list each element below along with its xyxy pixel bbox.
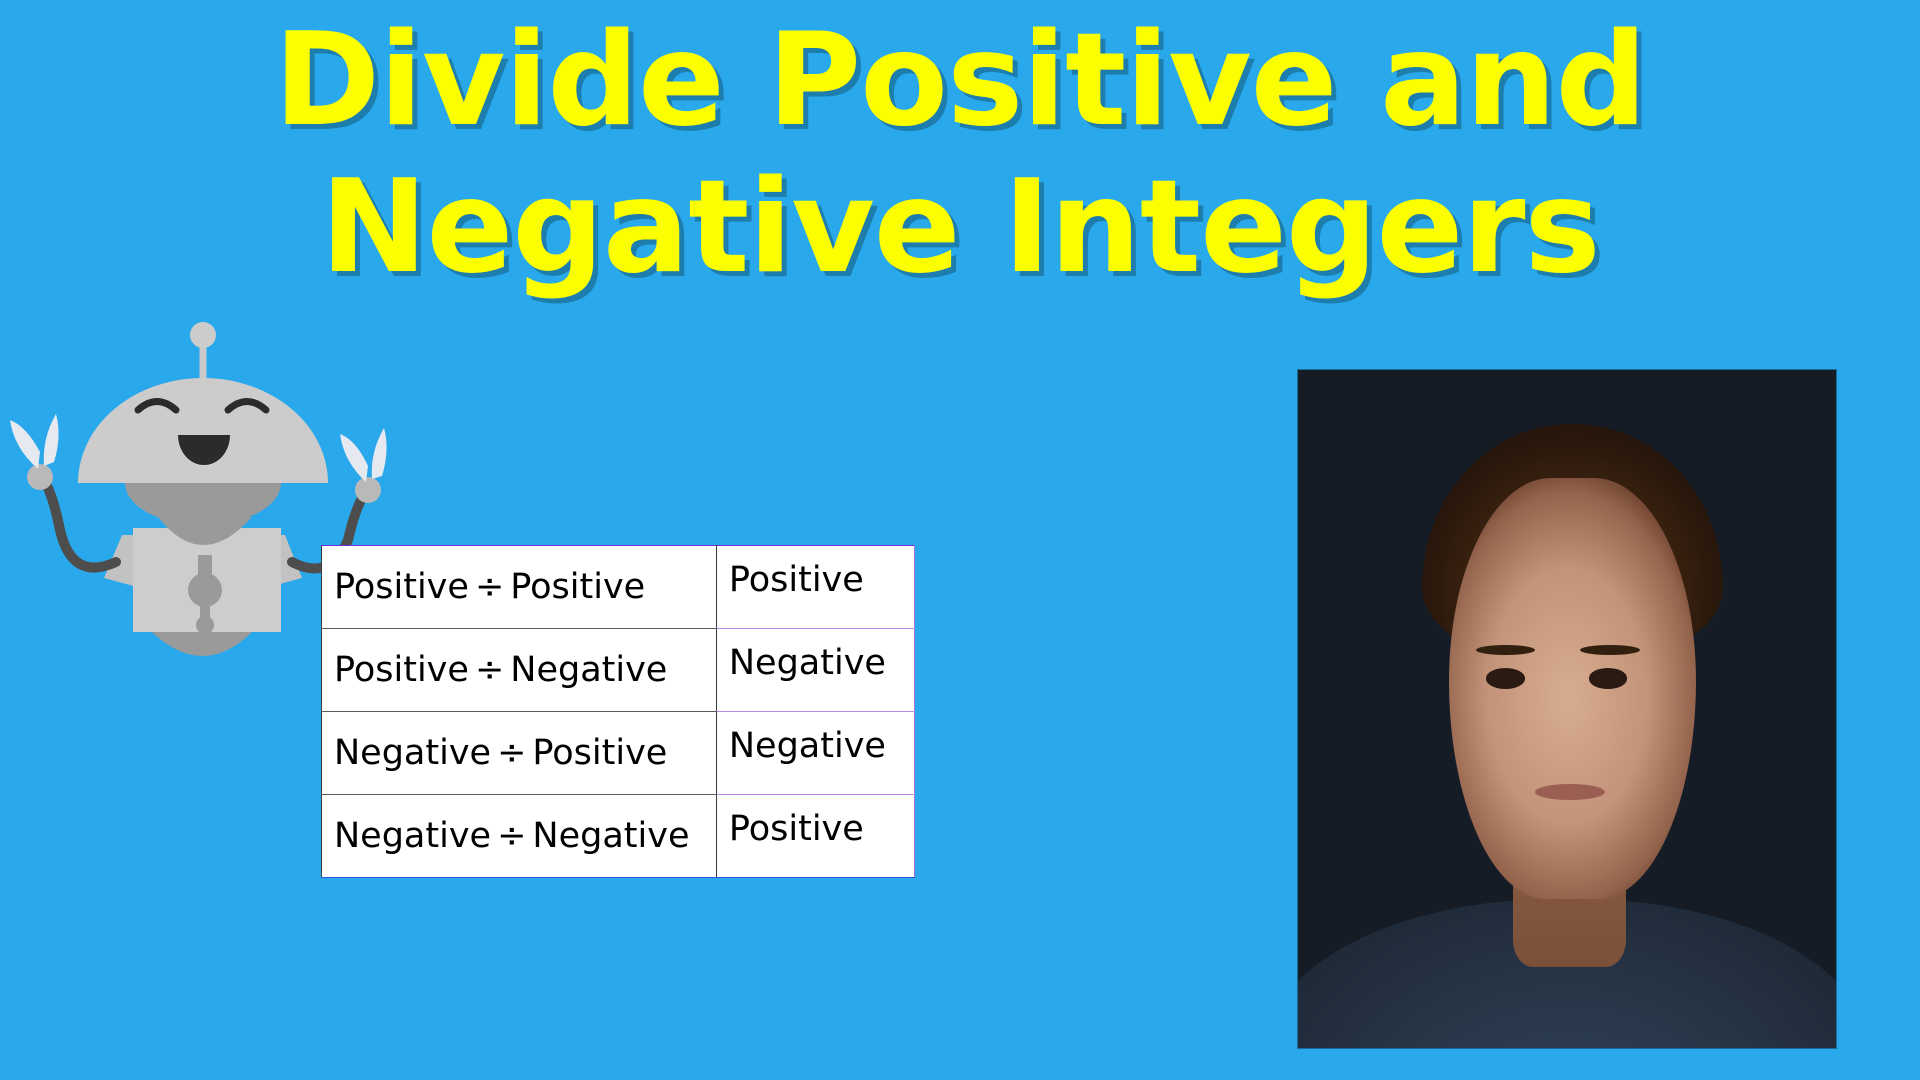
operand-2: Negative [510,650,667,690]
robot-antenna-ball [190,322,216,348]
table-body: Positive÷Positive Positive Positive÷Nega… [322,546,915,878]
operand-2: Positive [510,567,645,607]
presenter-face [1449,478,1696,898]
table-cell-result: Negative [716,629,914,712]
table-row: Positive÷Negative Negative [322,629,915,712]
operand-2: Positive [532,733,667,773]
table-cell-expression: Negative÷Positive [322,712,717,795]
robot-stand-ball [188,573,222,607]
title-line-1: Divide Positive and [0,18,1920,143]
robot-arm-left [42,478,116,568]
slide-canvas: Divide Positive and Negative Integers [0,0,1920,1080]
divide-icon: ÷ [469,567,510,607]
table-row: Negative÷Negative Positive [322,795,915,878]
robot-stand [140,515,280,645]
operand-1: Negative [334,733,491,773]
divide-icon: ÷ [491,816,532,856]
table-cell-result: Positive [716,795,914,878]
presenter-eye-right [1589,668,1628,688]
robot-stand-foot [196,616,214,634]
presenter-eye-left [1486,668,1525,688]
robot-claw-left-icon [10,414,59,490]
presenter-video-thumbnail [1298,370,1836,1048]
table-cell-result: Positive [716,546,914,629]
table-cell-expression: Negative÷Negative [322,795,717,878]
table-row: Positive÷Positive Positive [322,546,915,629]
robot-head-dome [78,378,328,483]
operand-1: Negative [334,816,491,856]
divide-icon: ÷ [491,733,532,773]
table-cell-expression: Positive÷Negative [322,629,717,712]
robot-hip-taper [158,517,252,545]
table-cell-expression: Positive÷Positive [322,546,717,629]
robot-claw-right-icon [340,428,387,503]
operand-1: Positive [334,650,469,690]
table-row: Negative÷Positive Negative [322,712,915,795]
presenter-mouth [1535,784,1605,800]
table-cell-result: Negative [716,712,914,795]
operand-1: Positive [334,567,469,607]
integer-division-rules-table: Positive÷Positive Positive Positive÷Nega… [321,545,915,878]
operand-2: Negative [532,816,689,856]
presenter-eyebrow-right [1580,645,1639,655]
divide-icon: ÷ [469,650,510,690]
presenter-eyebrow-left [1476,645,1535,655]
